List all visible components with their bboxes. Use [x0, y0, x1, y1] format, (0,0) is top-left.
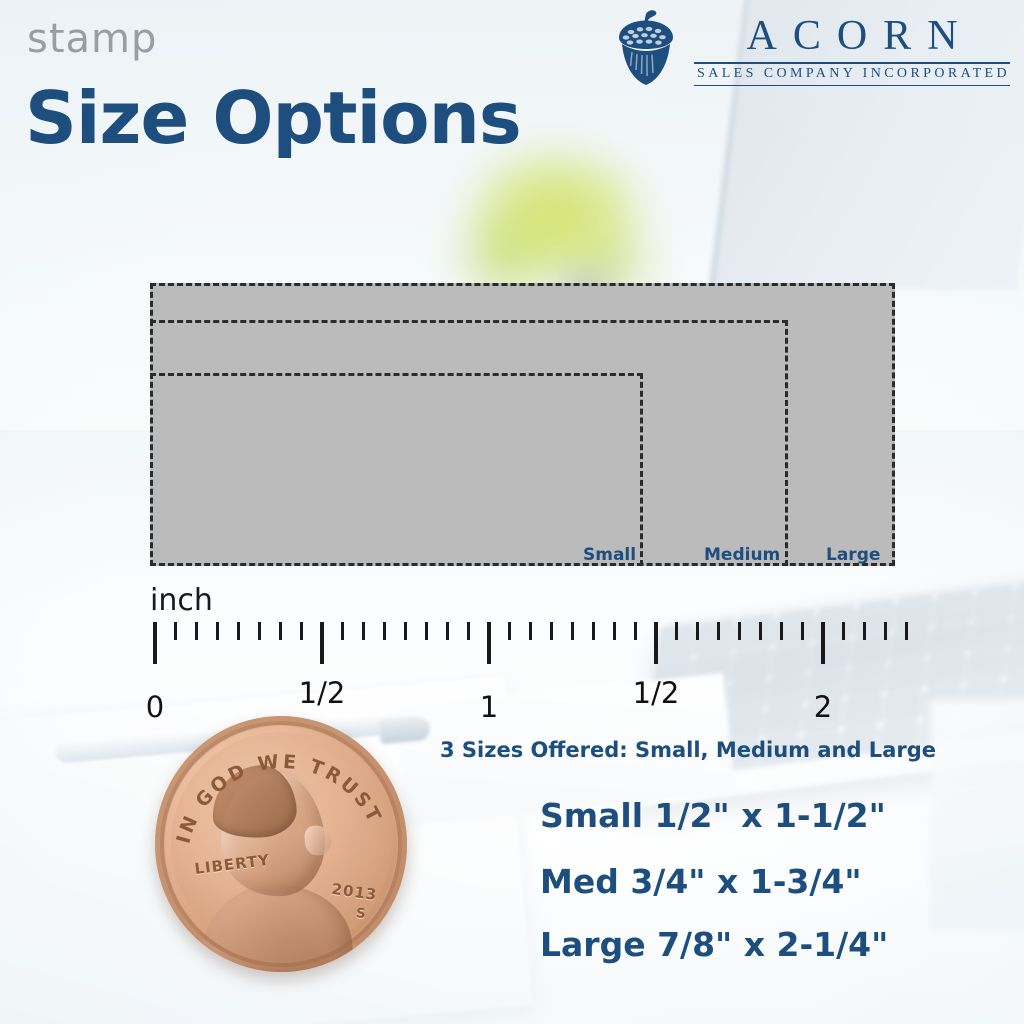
infographic-canvas: stamp Size Options ACORN SA: [0, 0, 1024, 1024]
spec-line-small: Small 1/2" x 1-1/2": [540, 796, 886, 835]
spec-line-large: Large 7/8" x 2-1/4": [540, 925, 888, 964]
logo-tagline: SALES COMPANY INCORPORATED: [694, 67, 1010, 81]
logo-wordmark-block: ACORN SALES COMPANY INCORPORATED: [694, 11, 1010, 86]
spec-line-medium: Med 3/4" x 1-3/4": [540, 862, 862, 901]
size-box-label-large: Large: [826, 545, 880, 565]
size-box-label-medium: Medium: [704, 545, 780, 565]
size-box-label-small: Small: [583, 545, 636, 565]
acorn-icon: [612, 8, 680, 88]
logo-wordmark: ACORN: [731, 15, 974, 57]
page-title: Size Options: [25, 76, 521, 160]
size-box-small: [150, 373, 643, 566]
penny-reference-coin: IN GOD WE TRUST LIBERTY 2013 S: [146, 708, 415, 981]
penny-mint-mark: S: [356, 906, 367, 922]
penny-motto-text: IN GOD WE TRUST: [167, 743, 388, 847]
logo-divider-bottom: [694, 85, 1010, 86]
spec-heading: 3 Sizes Offered: Small, Medium and Large: [440, 738, 936, 762]
ruler-unit-label: inch: [150, 583, 213, 618]
logo-divider-top: [694, 62, 1010, 64]
brand-logo: ACORN SALES COMPANY INCORPORATED: [612, 8, 1010, 88]
penny-motto-arc: IN GOD WE TRUST: [146, 708, 415, 981]
page-eyebrow: stamp: [27, 16, 157, 62]
